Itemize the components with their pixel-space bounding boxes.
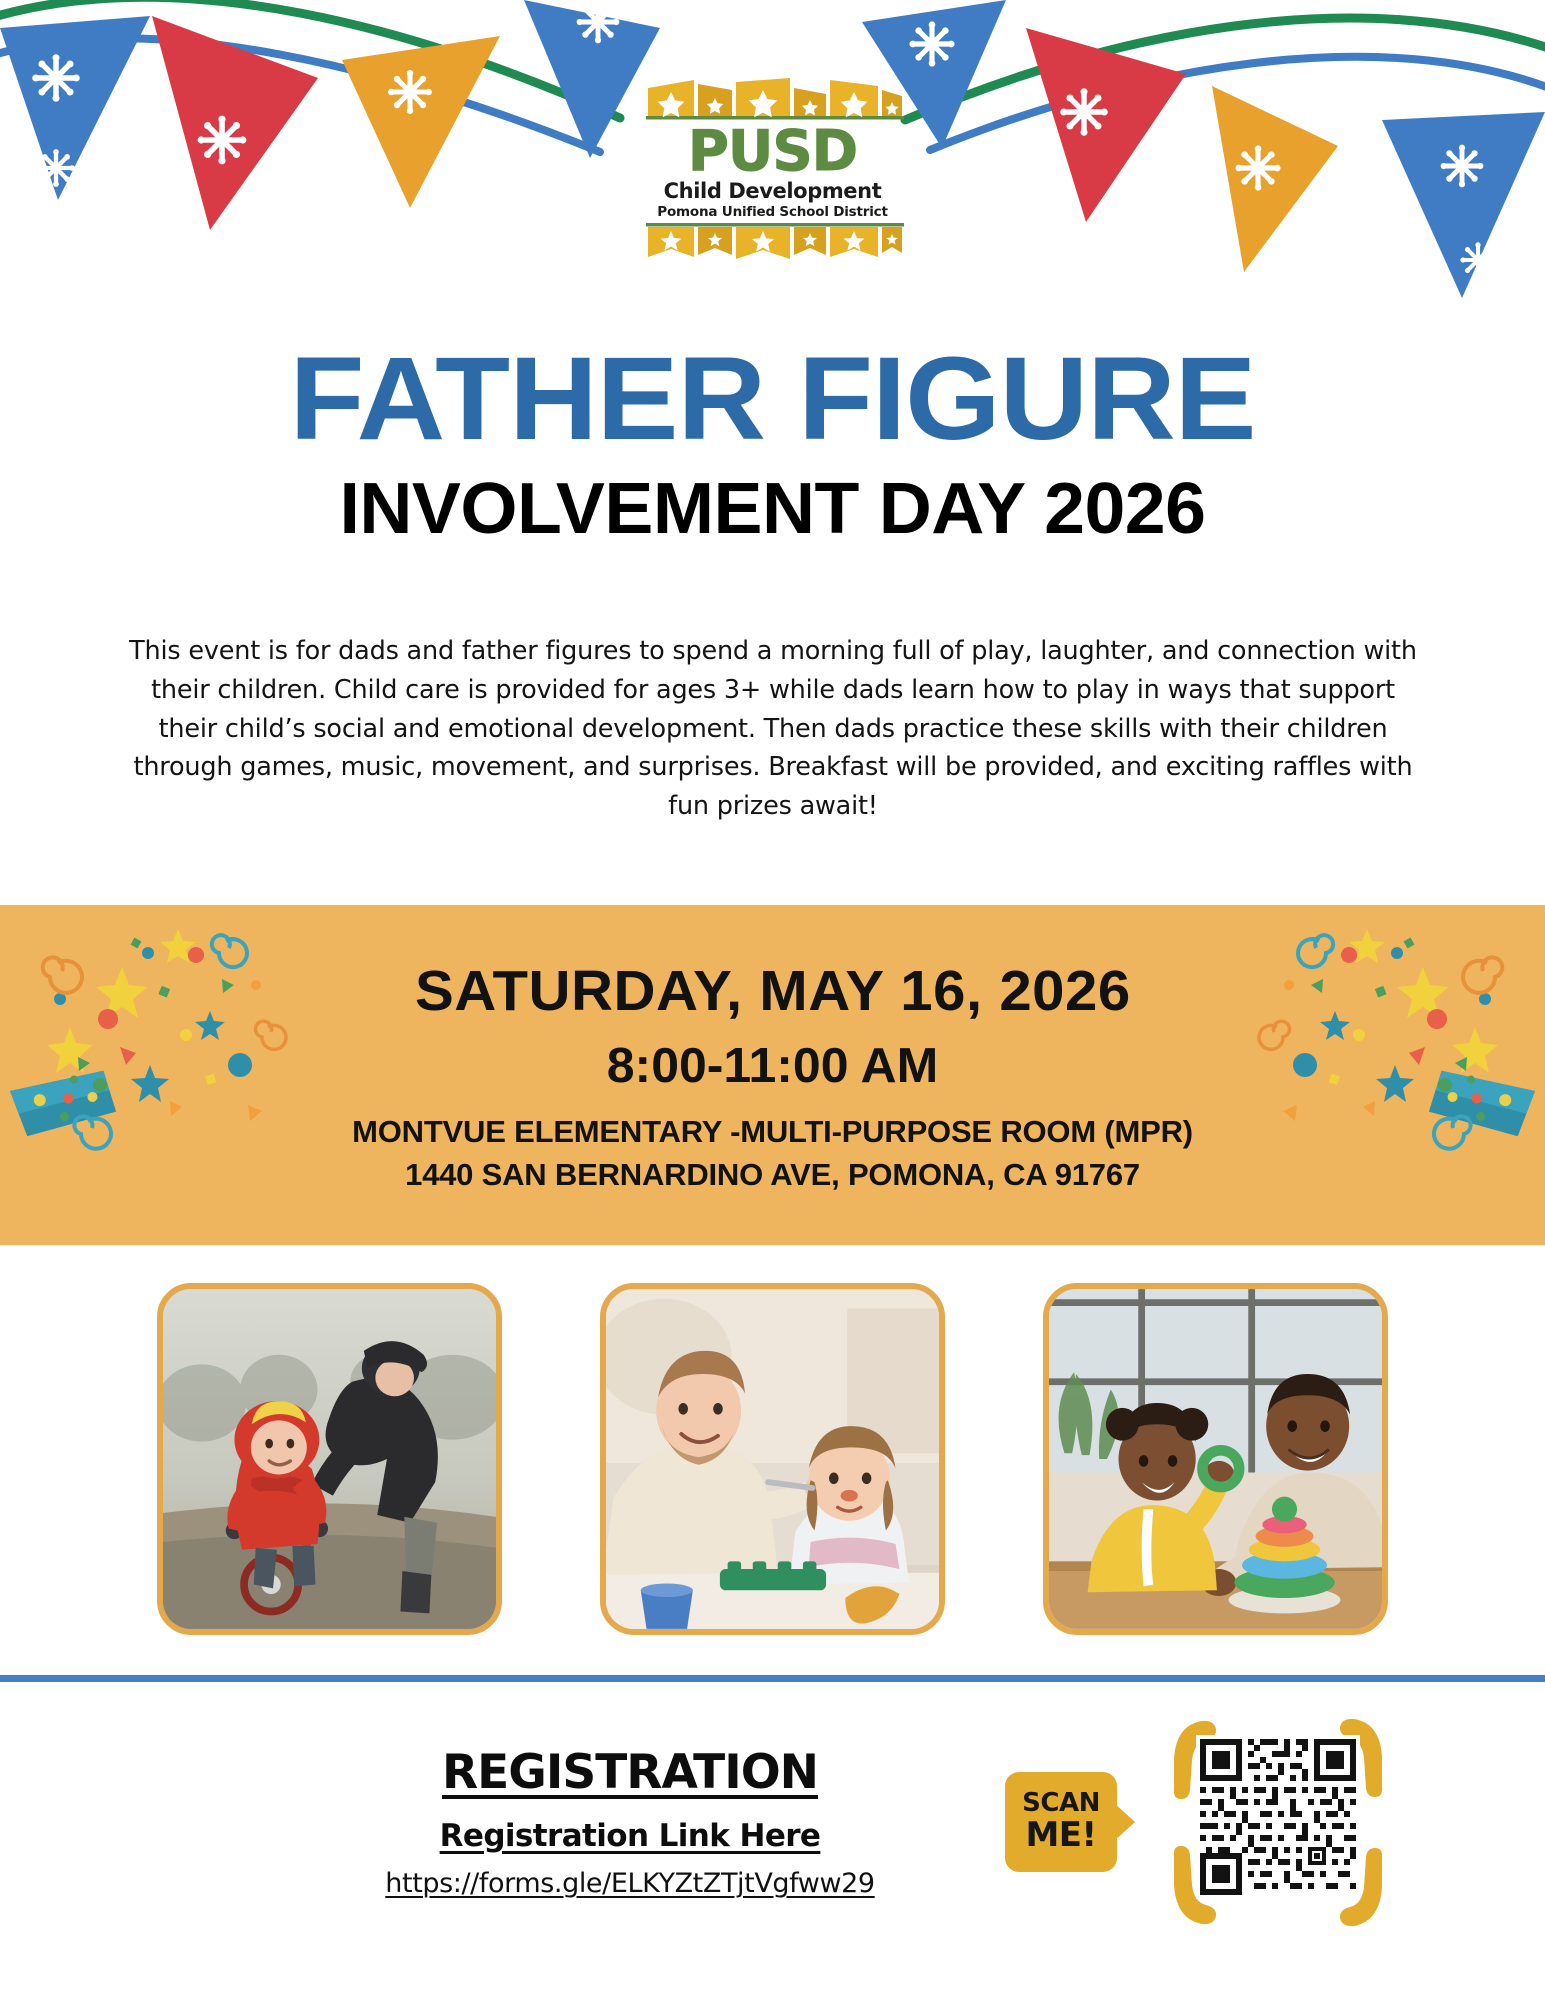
- page-title: FATHER FIGURE: [0, 340, 1545, 458]
- logo-line1: Child Development: [640, 179, 905, 203]
- page-subtitle: INVOLVEMENT DAY 2026: [0, 472, 1545, 548]
- bunting-flag-blue-4: [1382, 112, 1545, 298]
- scan-me-line2: ME!: [1025, 1818, 1096, 1854]
- pusd-logo: PUSD Child Development Pomona Unified Sc…: [640, 78, 905, 268]
- registration-url[interactable]: https://forms.gle/ELKYZtZTjtVgfww29: [255, 1868, 1005, 1899]
- logo-banner-top-icon: [640, 78, 905, 120]
- photo-gallery: [0, 1283, 1545, 1635]
- bunting-flag-blue-1: [0, 16, 150, 200]
- event-description: This event is for dads and father figure…: [118, 632, 1428, 826]
- section-divider: [0, 1675, 1545, 1682]
- flyer-page: PUSD Child Development Pomona Unified Sc…: [0, 0, 1545, 1999]
- scan-me-bubble: SCAN ME!: [1005, 1772, 1117, 1872]
- logo-line2: Pomona Unified School District: [640, 204, 905, 220]
- registration-block: REGISTRATION Registration Link Here http…: [255, 1745, 1005, 1899]
- event-date: SATURDAY, MAY 16, 2026: [415, 958, 1131, 1024]
- event-address: 1440 SAN BERNARDINO AVE, POMONA, CA 9176…: [405, 1157, 1140, 1193]
- registration-link-text[interactable]: Registration Link Here: [255, 1818, 1005, 1854]
- bunting-flag-red-1: [152, 16, 318, 230]
- scan-me-badge: SCAN ME!: [1005, 1772, 1133, 1872]
- bunting-flag-orange-2: [1212, 86, 1338, 272]
- photo-father-feeding-daughter: [600, 1283, 945, 1635]
- scan-me-line1: SCAN: [1022, 1790, 1100, 1816]
- page-title-block: FATHER FIGURE INVOLVEMENT DAY 2026: [0, 340, 1545, 548]
- event-time: 8:00-11:00 AM: [607, 1038, 939, 1094]
- event-details-banner: SATURDAY, MAY 16, 2026 8:00-11:00 AM MON…: [0, 905, 1545, 1245]
- photo-father-daughter-ring-stacker: [1043, 1283, 1388, 1635]
- logo-acronym: PUSD: [640, 126, 905, 178]
- logo-banner-bottom-icon: [640, 223, 905, 263]
- photo-father-balance-bike: [157, 1283, 502, 1635]
- scan-me-arrow-icon: [1113, 1802, 1135, 1842]
- registration-heading: REGISTRATION: [255, 1745, 1005, 1800]
- qr-code[interactable]: [1170, 1715, 1385, 1930]
- event-venue: MONTVUE ELEMENTARY -MULTI-PURPOSE ROOM (…: [352, 1114, 1193, 1150]
- bunting-flag-red-2: [1026, 28, 1186, 222]
- bunting-flag-orange-1: [342, 36, 500, 208]
